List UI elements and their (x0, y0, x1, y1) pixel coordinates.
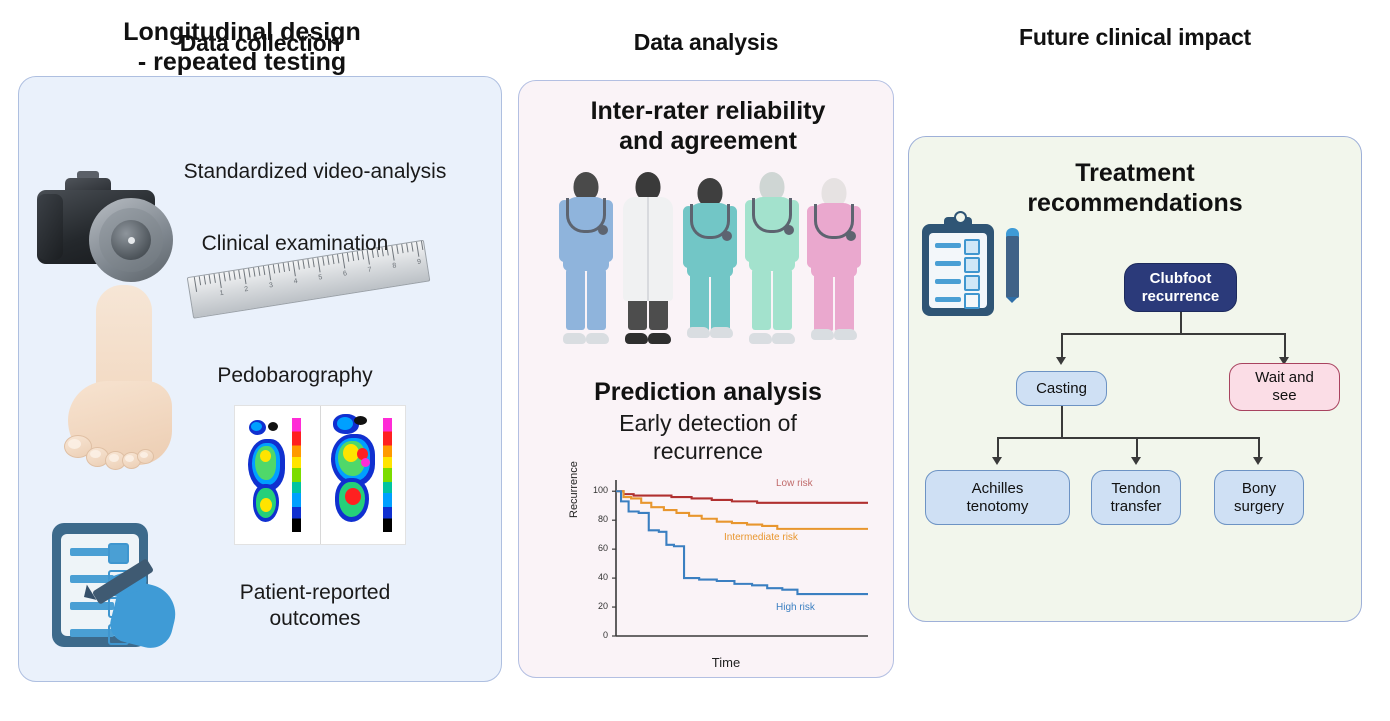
prediction-sub-line2: recurrence (538, 438, 878, 466)
clinician-2 (622, 172, 674, 340)
prediction-sub-line1: Early detection of (538, 410, 878, 438)
flow-node-clubfoot-recurrence[interactable]: Clubfoot recurrence (1124, 263, 1237, 312)
flow-node-achilles-tenotomy[interactable]: Achilles tenotomy (925, 470, 1070, 525)
edge-to-wait-and-see (1284, 333, 1286, 359)
panel2-subheading-prediction: Early detection of recurrence (538, 410, 878, 465)
edge-to-achilles (997, 437, 999, 459)
edge-to-tendon (1136, 437, 1138, 459)
arrow-to-casting (1056, 357, 1066, 365)
panel1-heading: Longitudinal design - repeated testing (30, 18, 454, 77)
chart-ytick-40: 40 (582, 572, 608, 582)
label-pedobarography: Pedobarography (150, 364, 440, 388)
wait-line2: see (1255, 387, 1314, 405)
flow-node-bony-surgery[interactable]: Bony surgery (1214, 470, 1304, 525)
camera-icon (33, 168, 173, 280)
label-patient-reported-outcomes: Patient-reported outcomes (200, 580, 430, 631)
edge-level2-bus (997, 437, 1259, 439)
chart-xlabel: Time (576, 655, 876, 670)
tendon-line2: transfer (1111, 498, 1162, 516)
pedobarography-right-foot (320, 406, 406, 544)
label-clinical-examination: Clinical examination (150, 232, 440, 256)
panel-title-future-clinical-impact: Future clinical impact (908, 24, 1362, 51)
arrow-to-achilles (992, 457, 1002, 465)
arrow-to-tendon (1131, 457, 1141, 465)
chart-ytick-20: 20 (582, 601, 608, 611)
achilles-line1: Achilles (967, 480, 1029, 498)
panel3-heading-line2: recommendations (940, 188, 1330, 218)
achilles-line2: tenotomy (967, 498, 1029, 516)
flow-node-tendon-transfer[interactable]: Tendon transfer (1091, 470, 1181, 525)
clinician-5 (808, 178, 860, 336)
checklist-clipboard-icon (922, 224, 994, 316)
edge-to-bony (1258, 437, 1260, 459)
tendon-line1: Tendon (1111, 480, 1162, 498)
clinician-group-illustration (560, 165, 860, 340)
chart-ytick-60: 60 (582, 543, 608, 553)
panel2-heading-interrater: Inter-rater reliability and agreement (538, 96, 878, 156)
panel1-heading-line2: - repeated testing (30, 48, 454, 78)
bony-line1: Bony (1234, 480, 1284, 498)
panel1-heading-line1: Longitudinal design (30, 18, 454, 48)
hand-with-pen-icon (105, 562, 191, 654)
clinician-1 (560, 172, 612, 340)
edge-casting-down (1061, 405, 1063, 437)
arrow-to-bony (1253, 457, 1263, 465)
flow-node-wait-and-see[interactable]: Wait and see (1229, 363, 1340, 411)
panel3-heading-line1: Treatment (940, 158, 1330, 188)
chart-legend-high-risk: High risk (776, 602, 815, 613)
chart-legend-intermediate-risk: Intermediate risk (724, 532, 798, 543)
recurrence-survival-chart: Recurrence Time 020406080100 Low riskInt… (576, 472, 876, 668)
chart-ytick-100: 100 (582, 485, 608, 495)
panel-title-data-analysis: Data analysis (518, 29, 894, 56)
wait-line1: Wait and (1255, 369, 1314, 387)
root-line1: Clubfoot (1142, 270, 1220, 288)
chart-plot-area (576, 472, 876, 668)
root-line2: recurrence (1142, 288, 1220, 306)
chart-ytick-80: 80 (582, 514, 608, 524)
panel2-heading-line2: and agreement (538, 126, 878, 156)
bony-line2: surgery (1234, 498, 1284, 516)
pencil-icon (1006, 228, 1019, 312)
panel2-heading-line1: Inter-rater reliability (538, 96, 878, 126)
chart-ytick-0: 0 (582, 630, 608, 640)
infographic-stage: Data collection Data analysis Future cli… (0, 0, 1390, 721)
pedobarography-image (234, 405, 406, 545)
chart-ylabel: Recurrence (568, 461, 580, 518)
pedobarography-left-foot (235, 406, 320, 544)
panel3-heading: Treatment recommendations (940, 158, 1330, 218)
clinician-3 (684, 178, 736, 334)
panel2-heading-prediction: Prediction analysis (538, 378, 878, 407)
flow-node-casting[interactable]: Casting (1016, 371, 1107, 406)
edge-to-casting (1061, 333, 1063, 359)
chart-legend-low-risk: Low risk (776, 478, 813, 489)
clinician-4 (746, 172, 798, 340)
edge-level1-bus (1061, 333, 1285, 335)
edge-root-down (1180, 311, 1182, 333)
label-standardized-video-analysis: Standardized video-analysis (150, 160, 480, 184)
pro-line1: Patient-reported outcomes (240, 581, 391, 630)
